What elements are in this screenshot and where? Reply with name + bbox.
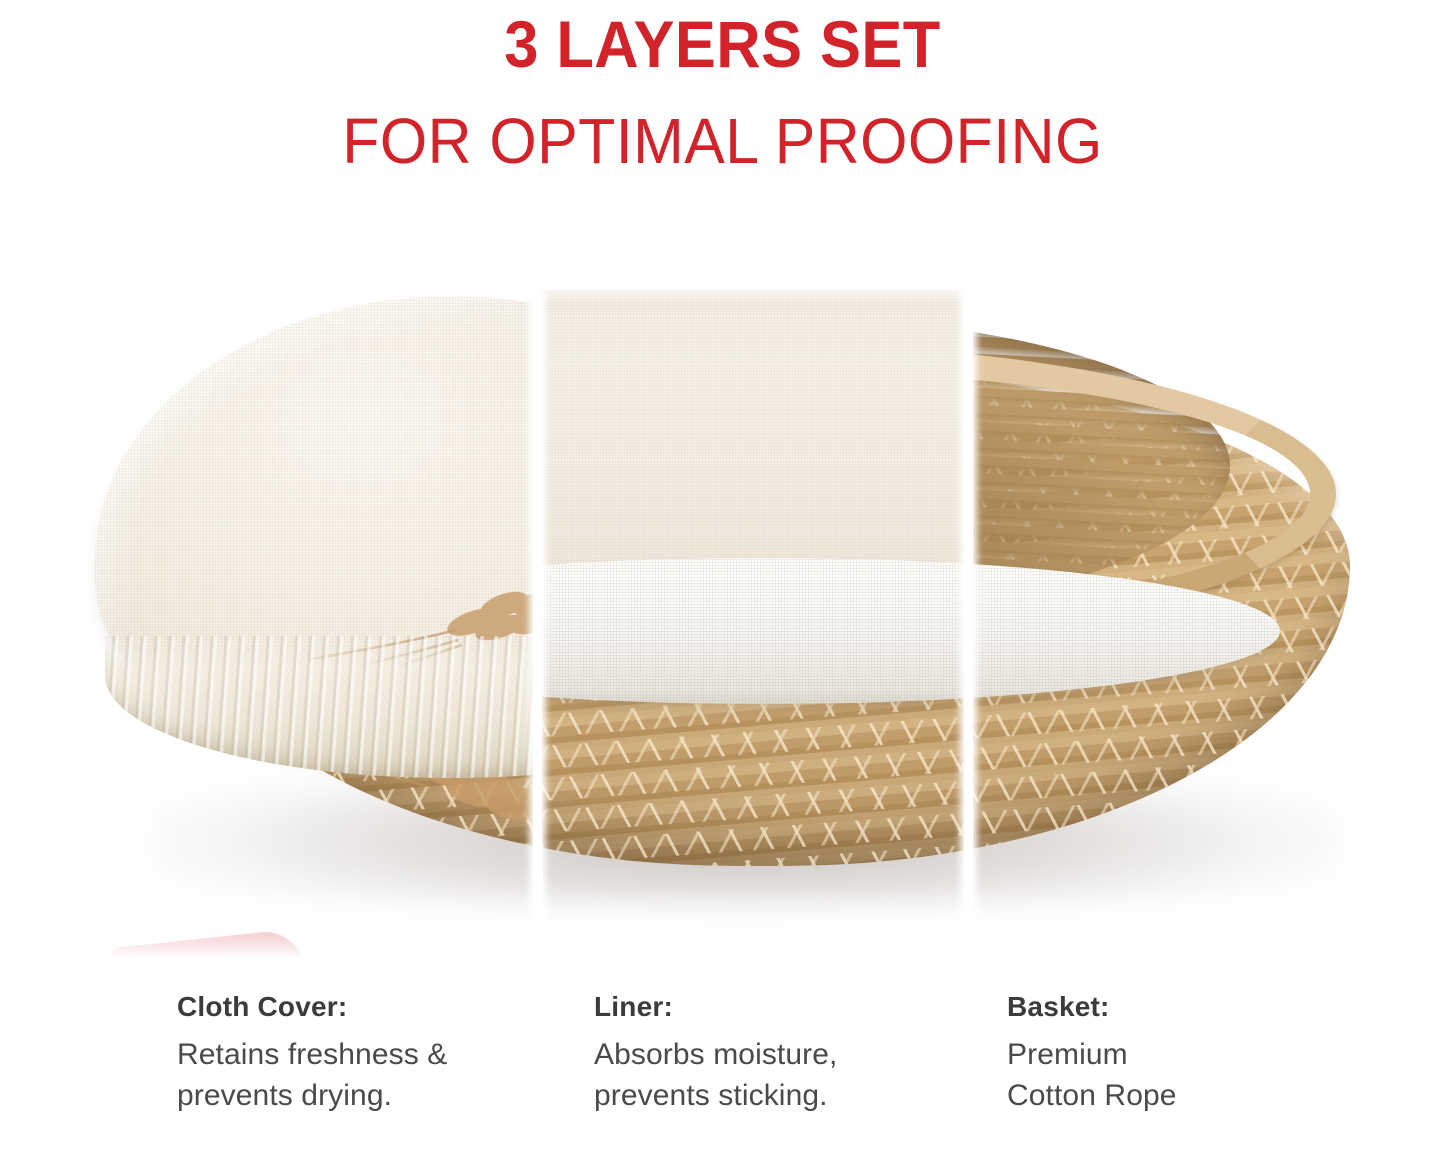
photo-bottom-fade <box>0 888 1445 958</box>
product-scene: Ace <box>0 258 1445 958</box>
cloth-cover-content: Ace <box>0 258 533 958</box>
caption-cloth-cover: Cloth Cover: Retains freshness & prevent… <box>177 990 577 1116</box>
caption-body: Retains freshness & prevents drying. <box>177 1034 577 1116</box>
caption-body-line: Cotton Rope <box>1007 1075 1407 1116</box>
cloth-cover-panel: Ace <box>0 258 533 958</box>
caption-title: Cloth Cover: <box>177 990 577 1024</box>
caption-body-line: Premium <box>1007 1034 1407 1075</box>
panel-divider-1 <box>533 258 542 958</box>
caption-basket: Basket: Premium Cotton Rope <box>1007 990 1407 1116</box>
headline-secondary: FOR OPTIMAL PROOFING <box>36 104 1409 178</box>
panel-divider-2 <box>964 258 973 958</box>
caption-row: Cloth Cover: Retains freshness & prevent… <box>0 990 1445 1157</box>
caption-body-line: Retains freshness & <box>177 1034 577 1075</box>
headline-primary: 3 LAYERS SET <box>51 6 1395 82</box>
caption-title: Liner: <box>594 990 994 1024</box>
caption-body: Absorbs moisture, prevents sticking. <box>594 1034 994 1116</box>
caption-body-line: prevents sticking. <box>594 1075 994 1116</box>
caption-body-line: Absorbs moisture, <box>594 1034 994 1075</box>
headline-block: 3 LAYERS SET FOR OPTIMAL PROOFING <box>0 0 1445 178</box>
caption-body: Premium Cotton Rope <box>1007 1034 1407 1116</box>
cloth-cover-elastic-hem <box>105 636 533 778</box>
infographic-page: 3 LAYERS SET FOR OPTIMAL PROOFING <box>0 0 1445 1157</box>
caption-body-line: prevents drying. <box>177 1075 577 1116</box>
caption-liner: Liner: Absorbs moisture, prevents sticki… <box>594 990 994 1116</box>
photo-top-fade <box>0 258 1445 304</box>
caption-title: Basket: <box>1007 990 1407 1024</box>
product-photo: Ace <box>0 258 1445 958</box>
